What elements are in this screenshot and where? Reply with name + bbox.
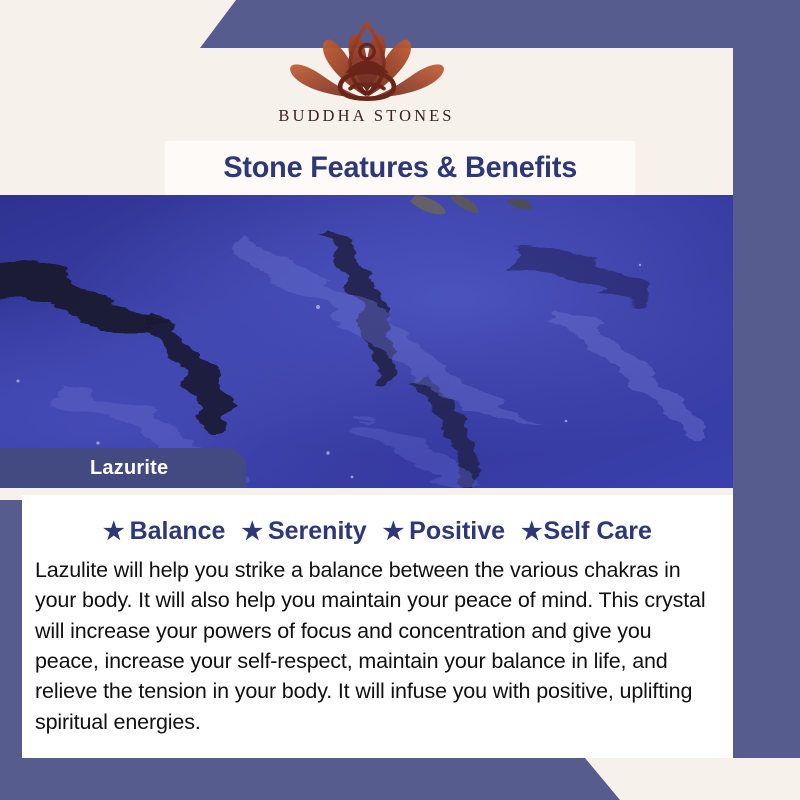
keyword-list: ★ Balance ★ Serenity ★ Positive ★ Self C… xyxy=(22,495,733,546)
star-icon: ★ xyxy=(103,520,125,544)
stone-name-label: Lazurite xyxy=(90,457,168,480)
bottom-band-diagonal-decoration xyxy=(0,758,620,800)
brand-name: BUDDHA STONES xyxy=(278,106,454,126)
stone-description: Lazulite will help you strike a balance … xyxy=(35,555,720,737)
star-icon: ★ xyxy=(241,520,263,544)
poster-canvas: BUDDHA STONES Stone Features & Benefits xyxy=(0,0,800,800)
keyword-item-self-care: ★ Self Care xyxy=(521,517,652,546)
page-title: Stone Features & Benefits xyxy=(223,151,577,185)
keyword-label: Serenity xyxy=(268,517,367,546)
right-border-bar xyxy=(733,0,800,800)
lotus-meditation-icon xyxy=(283,16,451,104)
keyword-item-positive: ★ Positive xyxy=(383,517,505,546)
title-banner: Stone Features & Benefits xyxy=(165,141,635,195)
keyword-label: Positive xyxy=(409,517,505,546)
keyword-item-serenity: ★ Serenity xyxy=(241,517,366,546)
left-border-strip xyxy=(0,500,22,800)
star-icon: ★ xyxy=(383,520,405,544)
star-icon: ★ xyxy=(521,520,543,544)
keyword-item-balance: ★ Balance xyxy=(103,517,225,546)
brand-header: BUDDHA STONES xyxy=(0,0,733,148)
keyword-label: Balance xyxy=(130,517,226,546)
lazurite-rough-stone-photo xyxy=(0,195,733,488)
stone-name-banner: Lazurite xyxy=(0,448,246,488)
content-card: ★ Balance ★ Serenity ★ Positive ★ Self C… xyxy=(22,495,733,758)
keyword-label: Self Care xyxy=(544,517,652,546)
